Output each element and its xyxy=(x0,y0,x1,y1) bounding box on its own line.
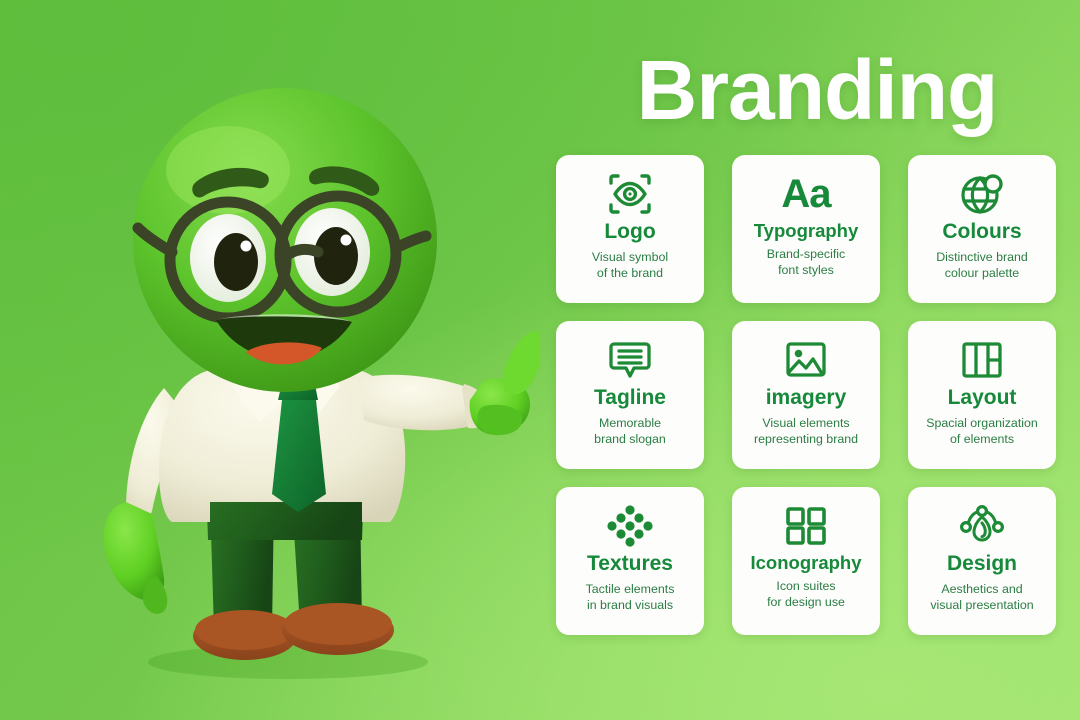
card-description: Icon suites for design use xyxy=(767,578,845,610)
card-description: Aesthetics and visual presentation xyxy=(930,581,1033,613)
card-colours[interactable]: Colours Distinctive brand colour palette xyxy=(908,155,1056,303)
mascot-right-shoe-top xyxy=(284,603,392,645)
image-icon xyxy=(738,335,874,385)
speech-bubble-icon xyxy=(562,335,698,385)
card-logo[interactable]: Logo Visual symbol of the brand xyxy=(556,155,704,303)
card-description: Memorable brand slogan xyxy=(594,415,666,447)
page-title: Branding xyxy=(612,48,1022,132)
card-iconography[interactable]: Iconography Icon suites for design use xyxy=(732,487,880,635)
mascot-shadow xyxy=(148,645,428,679)
mascot-eye-glint-right xyxy=(341,235,352,246)
mascot-left-shoe-top xyxy=(195,610,295,650)
eye-scan-icon xyxy=(562,169,698,219)
card-title: Iconography xyxy=(750,553,861,573)
mascot-knuckles xyxy=(478,405,522,435)
card-description: Tactile elements in brand visuals xyxy=(586,581,675,613)
layout-grid-icon xyxy=(914,335,1050,385)
mascot-illustration xyxy=(60,70,540,690)
four-squares-icon xyxy=(738,501,874,551)
card-imagery[interactable]: imagery Visual elements representing bra… xyxy=(732,321,880,469)
branding-elements-grid: Logo Visual symbol of the brand Aa Typog… xyxy=(556,155,1056,660)
card-title: Design xyxy=(947,553,1017,576)
card-tagline[interactable]: Tagline Memorable brand slogan xyxy=(556,321,704,469)
card-textures[interactable]: Textures Tactile elements in brand visua… xyxy=(556,487,704,635)
pen-nib-node-icon xyxy=(914,501,1050,551)
card-title: Layout xyxy=(948,387,1017,410)
card-description: Visual symbol of the brand xyxy=(592,249,668,281)
globe-icon xyxy=(914,169,1050,219)
card-title: Colours xyxy=(942,221,1021,244)
card-title: Tagline xyxy=(594,387,666,410)
card-title: Logo xyxy=(604,221,655,244)
card-description: Distinctive brand colour palette xyxy=(936,249,1028,281)
mascot-index-finger xyxy=(504,331,540,394)
card-description: Brand-specific font styles xyxy=(767,246,846,278)
card-layout[interactable]: Layout Spacial organization of elements xyxy=(908,321,1056,469)
card-typography[interactable]: Aa Typography Brand-specific font styles xyxy=(732,155,880,303)
card-title: imagery xyxy=(766,387,847,410)
aa-glyph-text: Aa xyxy=(781,174,830,214)
card-title: Typography xyxy=(754,221,859,241)
card-description: Visual elements representing brand xyxy=(754,415,858,447)
mascot-eye-glint-left xyxy=(241,241,252,252)
infographic-canvas: Branding Logo Visual symbol of the brand xyxy=(0,0,1080,720)
dots-pattern-icon xyxy=(562,501,698,551)
card-design[interactable]: Design Aesthetics and visual presentatio… xyxy=(908,487,1056,635)
card-description: Spacial organization of elements xyxy=(926,415,1038,447)
card-title: Textures xyxy=(587,553,673,576)
aa-type-icon: Aa xyxy=(738,169,874,219)
mascot-pupil-left xyxy=(214,233,258,291)
